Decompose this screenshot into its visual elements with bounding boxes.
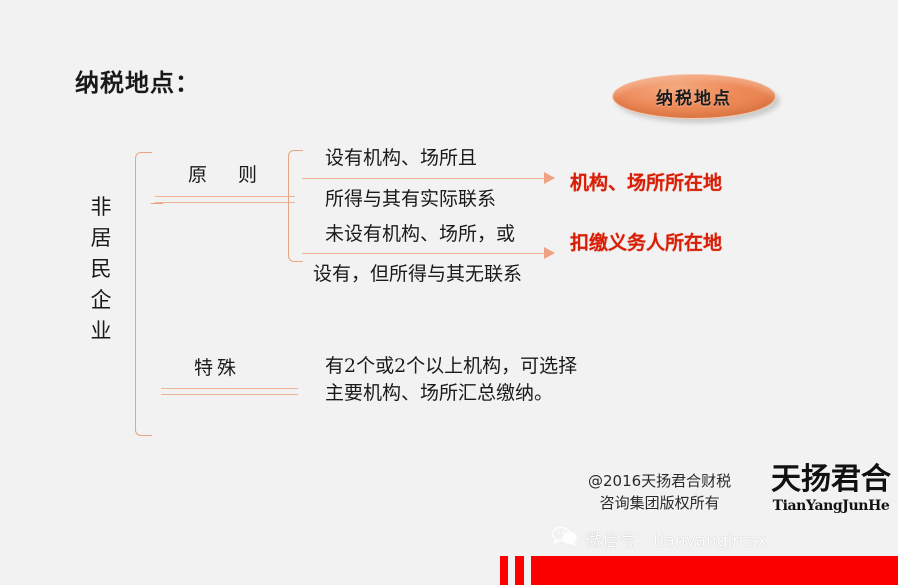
root-char-2: 居 [84, 223, 118, 254]
badge-label: 纳税地点 [656, 84, 732, 109]
arrow-head-1 [544, 172, 555, 184]
branch-label-principle: 原 则 [188, 160, 263, 187]
root-char-5: 业 [84, 316, 118, 347]
slide-canvas: 纳税地点： 纳税地点 非 居 民 企 业 原 则 设有机构、场所且 所得与其有实… [0, 0, 898, 585]
wechat-row: 微信号：tianyangjrcsx [552, 526, 767, 550]
company-logo: 天扬君合 TianYangJunHe [770, 462, 892, 514]
brace-main-stem [151, 203, 163, 204]
arrow-head-2 [544, 247, 555, 259]
root-char-3: 民 [84, 254, 118, 285]
root-char-4: 企 [84, 285, 118, 316]
special-text-line-2: 主要机构、场所汇总缴纳。 [325, 380, 553, 407]
badge-oval: 纳税地点 [612, 74, 782, 124]
root-char-1: 非 [84, 192, 118, 223]
root-label-vertical: 非 居 民 企 业 [84, 192, 118, 347]
branch-underline-principle [155, 196, 295, 203]
condition-2-line-1: 未设有机构、场所，或 [325, 222, 515, 246]
condition-1-line-2: 所得与其有实际联系 [325, 187, 496, 211]
logo-chinese: 天扬君合 [770, 462, 892, 498]
logo-pinyin: TianYangJunHe [770, 498, 892, 514]
copyright-block: @2016天扬君合财税 咨询集团版权所有 [588, 470, 731, 514]
branch-label-special: 特殊 [194, 353, 240, 380]
main-brace [135, 152, 152, 436]
condition-2-line-2: 设有，但所得与其无联系 [313, 262, 522, 286]
condition-1-line-1: 设有机构、场所且 [325, 146, 477, 170]
page-title: 纳税地点： [75, 63, 200, 98]
arrow-line-2 [302, 253, 545, 254]
result-2: 扣缴义务人所在地 [570, 228, 722, 255]
badge-body: 纳税地点 [612, 74, 776, 119]
wechat-label: 微信号：tianyangjrcsx [585, 526, 767, 551]
bottom-bar [0, 556, 898, 585]
wechat-icon [552, 526, 578, 551]
copyright-line-2: 咨询集团版权所有 [588, 492, 731, 514]
result-1: 机构、场所所在地 [570, 168, 722, 195]
principle-sub-brace [288, 150, 303, 262]
bottom-bar-stripe-2 [524, 556, 531, 585]
copyright-line-1: @2016天扬君合财税 [588, 470, 731, 492]
bottom-bar-red [500, 556, 898, 585]
arrow-line-1 [302, 178, 545, 179]
bottom-bar-stripe-1 [508, 556, 515, 585]
special-text-line-1: 有2个或2个以上机构，可选择 [325, 353, 577, 380]
branch-underline-special [161, 388, 298, 395]
